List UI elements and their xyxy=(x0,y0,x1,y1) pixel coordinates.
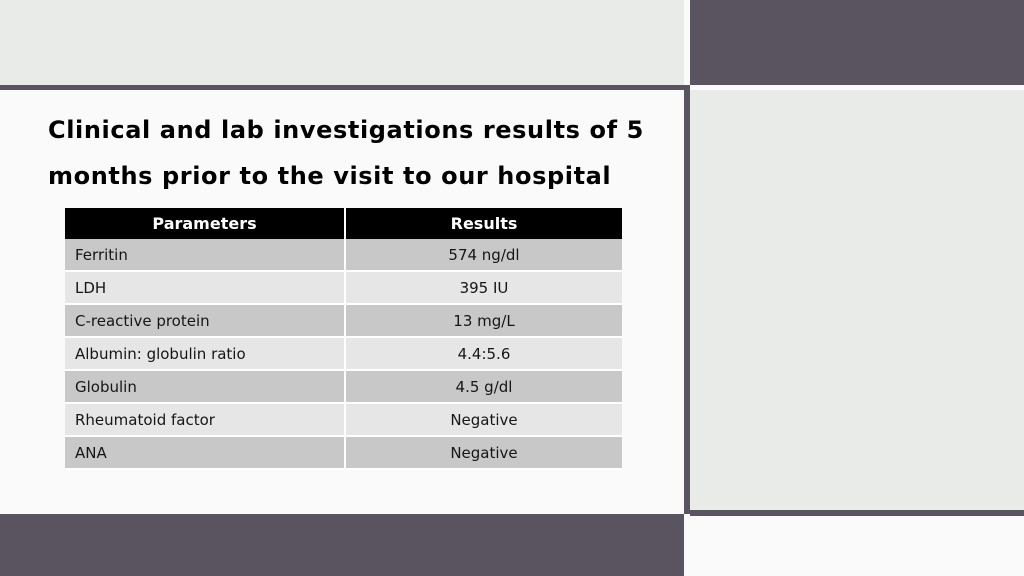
slide-title: Clinical and lab investigations results … xyxy=(48,107,648,199)
vertical-divider-rule xyxy=(684,85,690,514)
cell-result: Negative xyxy=(345,403,622,436)
cell-parameter: Globulin xyxy=(65,370,345,403)
table-row: Ferritin 574 ng/dl xyxy=(65,239,622,271)
right-pale-column xyxy=(690,90,1024,510)
cell-result: 13 mg/L xyxy=(345,304,622,337)
table-row: Globulin 4.5 g/dl xyxy=(65,370,622,403)
table-row: C-reactive protein 13 mg/L xyxy=(65,304,622,337)
cell-result: Negative xyxy=(345,436,622,469)
column-header-results: Results xyxy=(345,208,622,239)
table-row: ANA Negative xyxy=(65,436,622,469)
slide-canvas: Clinical and lab investigations results … xyxy=(0,0,1024,576)
top-left-pale-band xyxy=(0,0,684,85)
content-area: Clinical and lab investigations results … xyxy=(0,90,684,514)
cell-parameter: C-reactive protein xyxy=(65,304,345,337)
lab-results-table: Parameters Results Ferritin 574 ng/dl LD… xyxy=(65,208,622,470)
table-header: Parameters Results xyxy=(65,208,622,239)
cell-result: 4.5 g/dl xyxy=(345,370,622,403)
cell-parameter: Ferritin xyxy=(65,239,345,271)
table-header-row: Parameters Results xyxy=(65,208,622,239)
cell-result: 4.4:5.6 xyxy=(345,337,622,370)
cell-parameter: Rheumatoid factor xyxy=(65,403,345,436)
cell-result: 395 IU xyxy=(345,271,622,304)
table-row: Rheumatoid factor Negative xyxy=(65,403,622,436)
table-body: Ferritin 574 ng/dl LDH 395 IU C-reactive… xyxy=(65,239,622,469)
bottom-left-dark-band xyxy=(0,514,684,576)
cell-parameter: ANA xyxy=(65,436,345,469)
top-right-dark-band xyxy=(690,0,1024,85)
cell-parameter: LDH xyxy=(65,271,345,304)
cell-parameter: Albumin: globulin ratio xyxy=(65,337,345,370)
bottom-right-white-band xyxy=(690,516,1024,576)
cell-result: 574 ng/dl xyxy=(345,239,622,271)
table-row: LDH 395 IU xyxy=(65,271,622,304)
column-header-parameters: Parameters xyxy=(65,208,345,239)
table-row: Albumin: globulin ratio 4.4:5.6 xyxy=(65,337,622,370)
